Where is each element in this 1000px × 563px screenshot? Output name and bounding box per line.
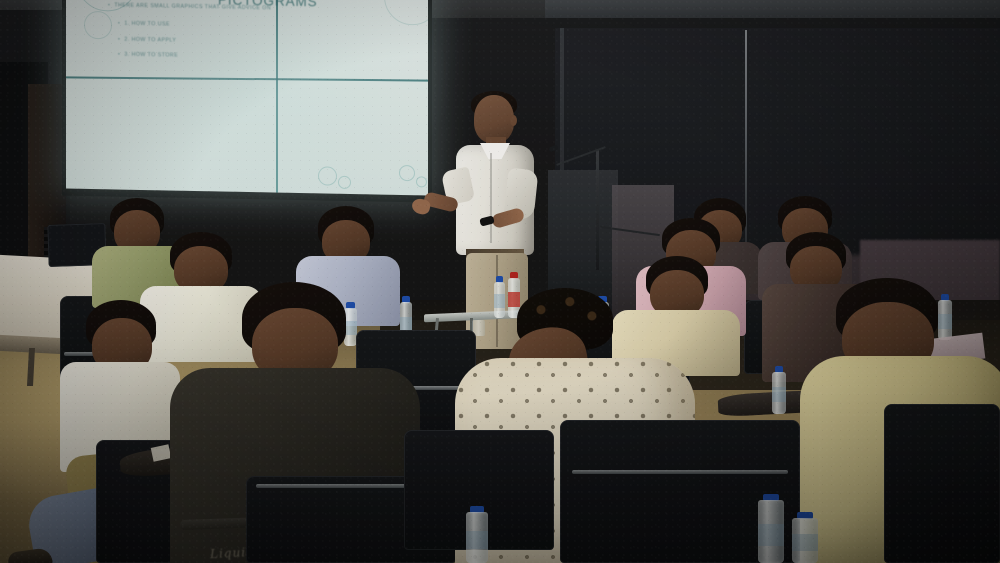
slide-bullet: 2. HOW TO APPLY [118,37,176,44]
water-bottle [466,506,488,563]
bottle-label [758,524,784,546]
slide-vertical-divider [276,0,278,193]
slide-bullet: 1. HOW TO USE [118,21,170,28]
water-bottle [772,366,786,414]
slide-arc-decoration [384,0,428,26]
chair-back [884,404,1000,563]
slide-arc-decoration [84,11,112,40]
presenter-ear [510,115,517,126]
water-bottle [792,512,818,563]
bottle-label [772,387,786,402]
presenter-shirt-placket [490,153,492,243]
seminar-room-photo: PICTOGRAMS THERE ARE SMALL GRAPHICS THAT… [0,0,1000,563]
slide-bullet: 3. HOW TO STORE [118,52,178,59]
slide-bubble-decoration [399,165,415,181]
slide-bubble-decoration [416,176,427,187]
chair-chrome-bar [572,470,788,474]
slide-horizontal-rule [66,76,428,81]
slide-bubble-decoration [318,166,337,185]
bottle-label [466,531,488,549]
slide-bubble-decoration [338,176,351,189]
bottle-label [792,534,818,550]
water-bottle [758,494,784,563]
projector-screen: PICTOGRAMS THERE ARE SMALL GRAPHICS THAT… [66,0,428,195]
slide: PICTOGRAMS THERE ARE SMALL GRAPHICS THAT… [66,0,428,195]
microphone-stand [596,150,599,270]
presenter-head [474,95,514,143]
